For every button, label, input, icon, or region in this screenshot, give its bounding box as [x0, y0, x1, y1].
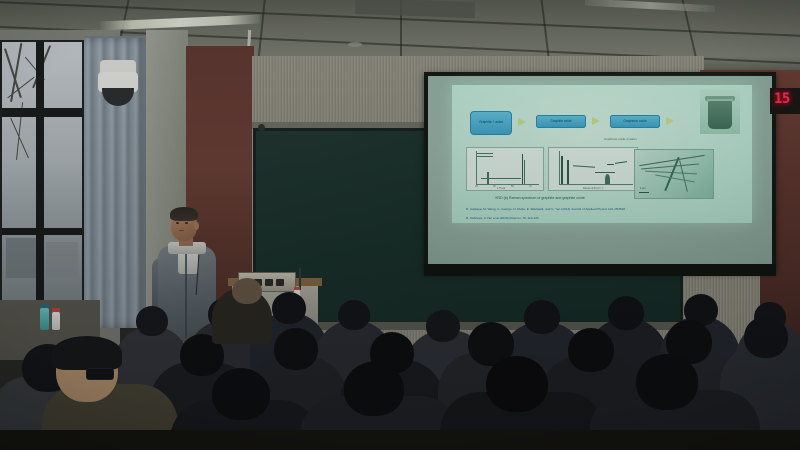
flow-arrow-icon-1 — [518, 118, 526, 126]
socket-icon[interactable] — [265, 279, 273, 286]
xrd-chart: 10 30 50 70 2 Theta — [466, 147, 544, 191]
flow-box-graphene-oxide-label: Graphene oxide — [623, 120, 646, 124]
tem-scale-label: 1 µm — [640, 187, 645, 190]
flow-box-graphite: Graphite + acids — [470, 111, 512, 135]
foreground-desk-edge — [0, 430, 800, 450]
reference-2: R. Sabzeva, C.Yan et al (2015) Polymer, … — [466, 216, 539, 220]
glasses-icon — [86, 368, 114, 380]
speaker-vest-zipper — [185, 250, 187, 338]
raman-xlabel: Raman shift (cm⁻¹) — [583, 187, 603, 190]
water-bottle-2 — [52, 312, 60, 330]
beaker-body-icon — [708, 101, 732, 129]
flow-arrow-icon-3 — [666, 117, 674, 125]
lecture-hall-photo: Preparation and characterization of grap… — [0, 0, 800, 450]
speaker-ear — [194, 222, 199, 230]
hair — [52, 336, 122, 370]
flow-box-graphite-label: Graphite + acids — [479, 121, 503, 125]
solution-caption: Graphene oxide in water — [604, 137, 637, 141]
reference-1: D. Galpaya, M. Wang, G. George, N. Motta… — [466, 207, 625, 211]
tem-micrograph: 1 µm — [634, 149, 714, 199]
chalkboard-knob-icon — [258, 124, 265, 131]
flow-arrow-icon-2 — [592, 117, 600, 125]
thermos-flask — [40, 308, 49, 330]
raman-chart: Raman shift (cm⁻¹) — [548, 147, 638, 191]
ceiling-speaker-icon — [348, 42, 362, 47]
socket-icon[interactable] — [276, 279, 284, 286]
speaker-hair — [170, 207, 198, 221]
projection-screen-bottom-bar — [424, 264, 776, 276]
xrd-xlabel: 2 Theta — [497, 187, 505, 190]
figure-caption: XRD (b) Raman spectrum of graphite and g… — [495, 196, 585, 200]
flow-box-graphene-oxide: Graphene oxide — [610, 115, 660, 128]
window-glass — [2, 42, 82, 310]
led-sign-text: 15 — [774, 91, 790, 107]
flow-box-graphite-oxide-label: Graphite oxide — [550, 120, 571, 124]
flow-box-graphite-oxide: Graphite oxide — [536, 115, 586, 128]
